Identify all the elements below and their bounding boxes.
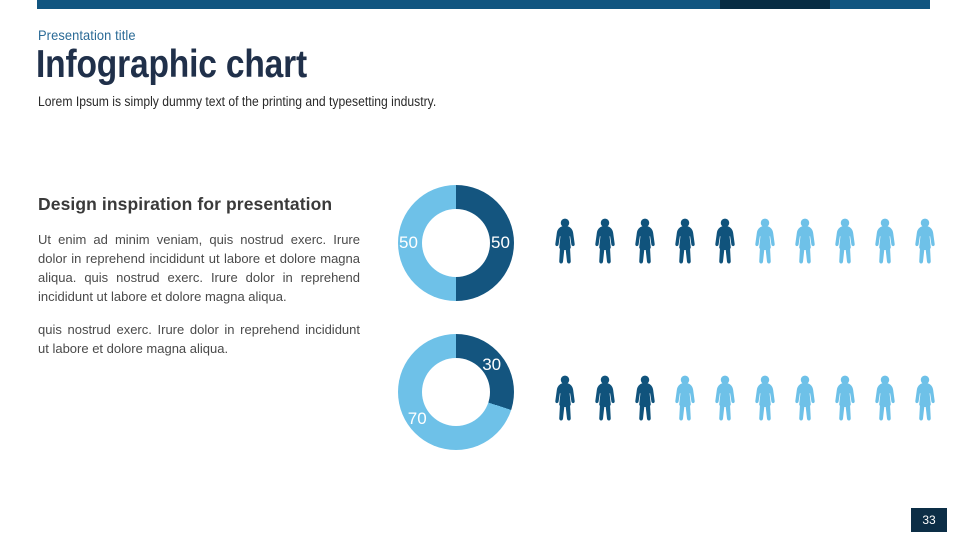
left-text-column: Design inspiration for presentation Ut e…: [38, 193, 360, 359]
donut-ring-2: 30 70: [398, 334, 514, 450]
slide-canvas: Presentation title Infographic chart Lor…: [0, 0, 960, 540]
person-icon: [785, 201, 825, 281]
person-icon: [625, 358, 665, 436]
body-paragraph-1: Ut enim ad minim veniam, quis nostrud ex…: [38, 231, 360, 307]
person-icon: [745, 358, 785, 436]
page-subtitle: Lorem Ipsum is simply dummy text of the …: [38, 94, 436, 109]
body-paragraph-2: quis nostrud exerc. Irure dolor in repre…: [38, 321, 360, 359]
person-icon: [665, 201, 705, 281]
person-icon: [585, 201, 625, 281]
donut-1-label-a: 50: [491, 234, 510, 251]
person-icon: [865, 201, 905, 281]
donut-chart-1[interactable]: 50 50: [398, 185, 514, 301]
page-title: Infographic chart: [36, 45, 307, 86]
person-icon: [625, 201, 665, 281]
person-icon: [745, 201, 785, 281]
person-icon: [785, 358, 825, 436]
person-icon: [705, 358, 745, 436]
person-icon: [545, 201, 585, 281]
person-icon: [825, 201, 865, 281]
top-bar-segment-left: [37, 0, 720, 9]
donut-ring-1: 50 50: [398, 185, 514, 301]
top-bar-segment-right: [830, 0, 930, 9]
pictogram-row-2: [545, 358, 945, 436]
donut-2-label-a: 30: [482, 356, 501, 373]
person-icon: [905, 358, 945, 436]
person-icon: [585, 358, 625, 436]
section-heading: Design inspiration for presentation: [38, 193, 360, 215]
person-icon: [865, 358, 905, 436]
person-icon: [825, 358, 865, 436]
donut-1-label-b: 50: [399, 234, 418, 251]
person-icon: [705, 201, 745, 281]
pictogram-row-1: [545, 201, 945, 281]
person-icon: [545, 358, 585, 436]
presentation-eyebrow: Presentation title: [38, 27, 136, 43]
top-bar-segment-mid: [720, 0, 830, 9]
top-accent-bar: [0, 0, 960, 9]
donut-hole-2: [422, 358, 490, 426]
page-number-badge: 33: [911, 508, 947, 532]
donut-2-label-b: 70: [408, 410, 427, 427]
donut-chart-2[interactable]: 30 70: [398, 334, 514, 450]
donut-hole-1: [422, 209, 490, 277]
person-icon: [665, 358, 705, 436]
person-icon: [905, 201, 945, 281]
